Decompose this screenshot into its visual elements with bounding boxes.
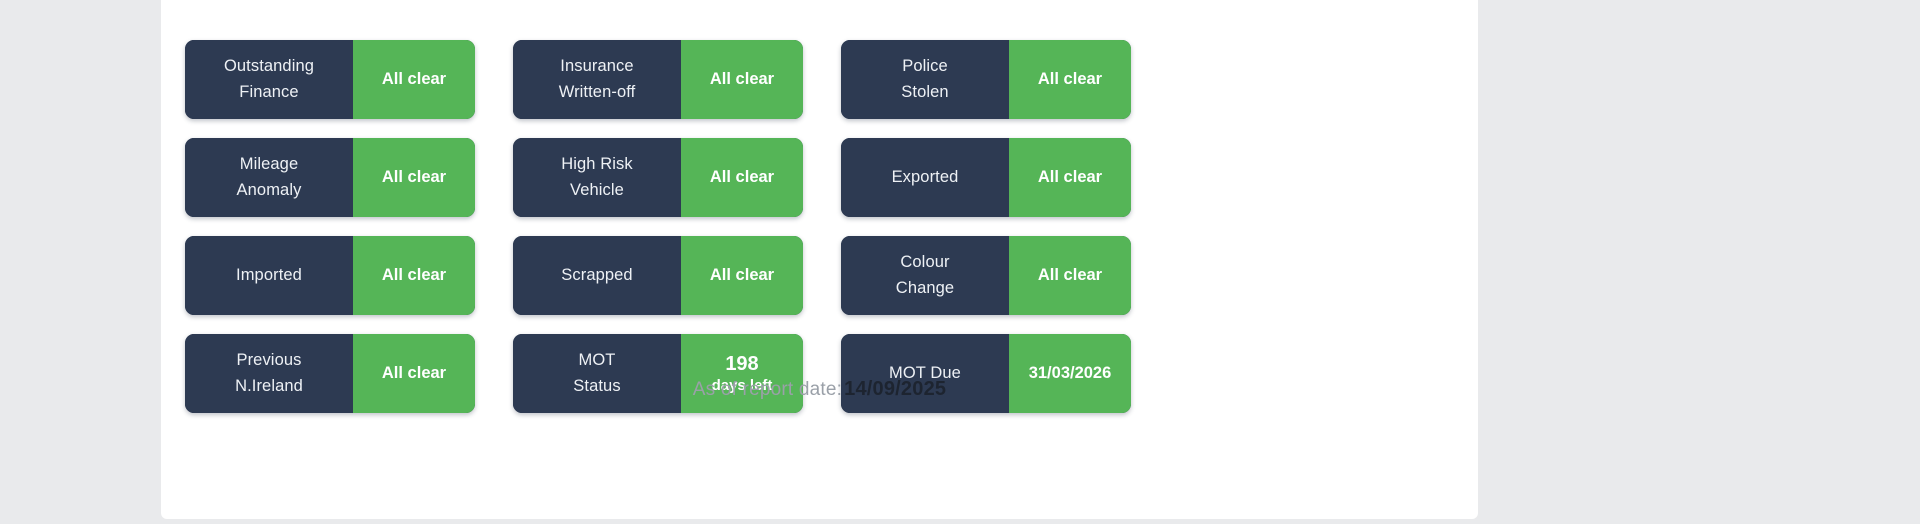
check-status-badge: All clear bbox=[681, 138, 803, 217]
check-pill-mot-status[interactable]: MOTStatus 198 days left bbox=[513, 334, 803, 413]
check-label: High RiskVehicle bbox=[513, 138, 681, 217]
check-pill-scrapped[interactable]: Scrapped All clear bbox=[513, 236, 803, 315]
report-date-label: As of report date: bbox=[693, 379, 842, 400]
check-status-text: All clear bbox=[382, 167, 446, 188]
check-label: OutstandingFinance bbox=[185, 40, 353, 119]
check-label: Scrapped bbox=[513, 236, 681, 315]
check-label: MileageAnomaly bbox=[185, 138, 353, 217]
check-status-badge: All clear bbox=[353, 138, 475, 217]
check-status-text: All clear bbox=[382, 69, 446, 90]
check-status-text: All clear bbox=[1038, 167, 1102, 188]
report-panel: OutstandingFinance All clear InsuranceWr… bbox=[161, 0, 1478, 519]
mot-days-left-value: 198 bbox=[725, 353, 758, 376]
check-label: PoliceStolen bbox=[841, 40, 1009, 119]
check-status-text: All clear bbox=[1038, 69, 1102, 90]
check-pill-police-stolen[interactable]: PoliceStolen All clear bbox=[841, 40, 1131, 119]
check-label: ColourChange bbox=[841, 236, 1009, 315]
check-status-text: All clear bbox=[710, 69, 774, 90]
check-status-text: All clear bbox=[710, 265, 774, 286]
check-status-badge: All clear bbox=[353, 334, 475, 413]
check-status-badge: All clear bbox=[1009, 138, 1131, 217]
check-label: MOTStatus bbox=[513, 334, 681, 413]
check-pill-mileage-anomaly[interactable]: MileageAnomaly All clear bbox=[185, 138, 475, 217]
check-status-text: All clear bbox=[1038, 265, 1102, 286]
panel-top-notch bbox=[1248, 0, 1478, 14]
check-pill-insurance-written-off[interactable]: InsuranceWritten-off All clear bbox=[513, 40, 803, 119]
check-label: Exported bbox=[841, 138, 1009, 217]
check-pill-colour-change[interactable]: ColourChange All clear bbox=[841, 236, 1131, 315]
check-pill-exported[interactable]: Exported All clear bbox=[841, 138, 1131, 217]
check-label: PreviousN.Ireland bbox=[185, 334, 353, 413]
check-status-badge: 31/03/2026 bbox=[1009, 334, 1131, 413]
check-status-badge: All clear bbox=[1009, 40, 1131, 119]
check-status-text: All clear bbox=[382, 265, 446, 286]
check-pill-high-risk-vehicle[interactable]: High RiskVehicle All clear bbox=[513, 138, 803, 217]
check-label: MOT Due bbox=[841, 334, 1009, 413]
check-status-badge: All clear bbox=[681, 236, 803, 315]
check-status-badge: All clear bbox=[353, 236, 475, 315]
status-check-grid: OutstandingFinance All clear InsuranceWr… bbox=[185, 40, 1455, 413]
check-pill-imported[interactable]: Imported All clear bbox=[185, 236, 475, 315]
report-date-value: 14/09/2025 bbox=[844, 378, 946, 400]
check-status-badge: All clear bbox=[681, 40, 803, 119]
check-status-badge: 198 days left bbox=[681, 334, 803, 413]
vehicle-check-report-page: OutstandingFinance All clear InsuranceWr… bbox=[0, 0, 1920, 524]
check-label: Imported bbox=[185, 236, 353, 315]
check-status-badge: All clear bbox=[353, 40, 475, 119]
check-pill-previous-n-ireland[interactable]: PreviousN.Ireland All clear bbox=[185, 334, 475, 413]
check-pill-outstanding-finance[interactable]: OutstandingFinance All clear bbox=[185, 40, 475, 119]
report-date-footer: As of report date:14/09/2025 bbox=[161, 378, 1478, 401]
check-status-text: All clear bbox=[710, 167, 774, 188]
check-pill-mot-due[interactable]: MOT Due 31/03/2026 bbox=[841, 334, 1131, 413]
check-label: InsuranceWritten-off bbox=[513, 40, 681, 119]
check-status-badge: All clear bbox=[1009, 236, 1131, 315]
